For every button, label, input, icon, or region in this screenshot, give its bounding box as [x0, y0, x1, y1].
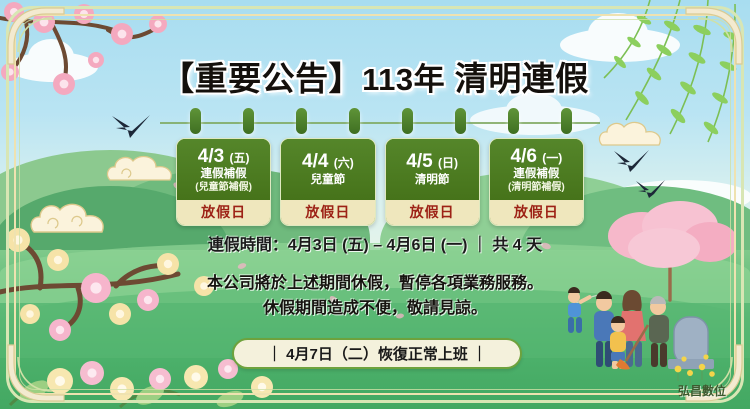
notice-line-2: 休假期間造成不便，敬請見諒。: [0, 297, 750, 322]
hanging-peg-icon: [190, 108, 201, 134]
hanging-peg-icon: [508, 108, 519, 134]
card-weekday-value: (六): [334, 156, 354, 170]
holiday-card-date: 4/5 (日): [406, 152, 458, 172]
holiday-card-name: 連假補假: [201, 168, 247, 182]
holiday-card: 4/4 (六) 兒童節 放假日: [280, 138, 375, 226]
company-signature: 弘昌數位: [678, 382, 726, 399]
hanging-peg-icon: [402, 108, 413, 134]
notice-text: 本公司將於上述期間休假，暫停各項業務服務。 休假期間造成不便，敬請見諒。: [0, 272, 750, 322]
holiday-card-status: 放假日: [490, 200, 583, 225]
hanging-rail: [160, 122, 600, 124]
holiday-card-date: 4/6 (一): [511, 147, 563, 167]
holiday-card-status: 放假日: [386, 200, 479, 225]
holiday-card-date: 4/4 (六): [302, 152, 354, 172]
holiday-card-body: 4/4 (六) 兒童節: [281, 139, 374, 200]
holiday-card-status: 放假日: [177, 200, 270, 225]
hanging-peg-icon: [455, 108, 466, 134]
holiday-card-name: 兒童節: [311, 174, 346, 188]
title-bracket-text: 【重要公告】: [161, 60, 362, 97]
title-year-text: 113年: [362, 62, 445, 97]
holiday-card-body: 4/6 (一) 連假補假 (清明節補假): [490, 139, 583, 200]
holiday-card: 4/3 (五) 連假補假 (兒童節補假) 放假日: [176, 138, 271, 226]
title-event-text: 清明連假: [455, 60, 589, 97]
holiday-card-body: 4/3 (五) 連假補假 (兒童節補假): [177, 139, 270, 200]
card-date-value: 4/5: [406, 151, 432, 172]
holiday-card-status: 放假日: [281, 200, 374, 225]
card-weekday-value: (日): [438, 156, 458, 170]
holiday-card-note: (兒童節補假): [195, 182, 252, 194]
hanging-peg-icon: [561, 108, 572, 134]
hanging-peg-icon: [349, 108, 360, 134]
holiday-card-body: 4/5 (日) 清明節: [386, 139, 479, 200]
return-to-work-banner: ｜ 4月7日（二）恢復正常上班 ｜: [232, 338, 522, 369]
holiday-card-name: 連假補假: [513, 168, 559, 182]
holiday-card-name: 清明節: [415, 174, 450, 188]
holiday-announcement-poster: 【重要公告】113年 清明連假 4/3 (五) 連假補假 (兒童節補假) 放假日…: [0, 0, 750, 409]
cloud-icon: [470, 105, 600, 135]
card-weekday-value: (五): [229, 151, 249, 165]
card-weekday-value: (一): [542, 151, 562, 165]
hanging-peg-icon: [243, 108, 254, 134]
page-title: 【重要公告】113年 清明連假: [0, 52, 750, 100]
hanging-peg-icon: [296, 108, 307, 134]
card-date-value: 4/3: [198, 146, 224, 167]
holiday-card: 4/6 (一) 連假補假 (清明節補假) 放假日: [489, 138, 584, 226]
notice-line-1: 本公司將於上述期間休假，暫停各項業務服務。: [0, 272, 750, 297]
holiday-card-note: (清明節補假): [508, 182, 565, 194]
card-date-value: 4/6: [511, 146, 537, 167]
holiday-card-date: 4/3 (五): [198, 147, 250, 167]
holiday-range-line: 連假時間：4月3日 (五) – 4月6日 (一) ｜ 共 4 天: [0, 231, 750, 255]
card-date-value: 4/4: [302, 151, 328, 172]
holiday-cards-list: 4/3 (五) 連假補假 (兒童節補假) 放假日 4/4 (六) 兒童節 放假日…: [176, 138, 584, 226]
holiday-card: 4/5 (日) 清明節 放假日: [385, 138, 480, 226]
